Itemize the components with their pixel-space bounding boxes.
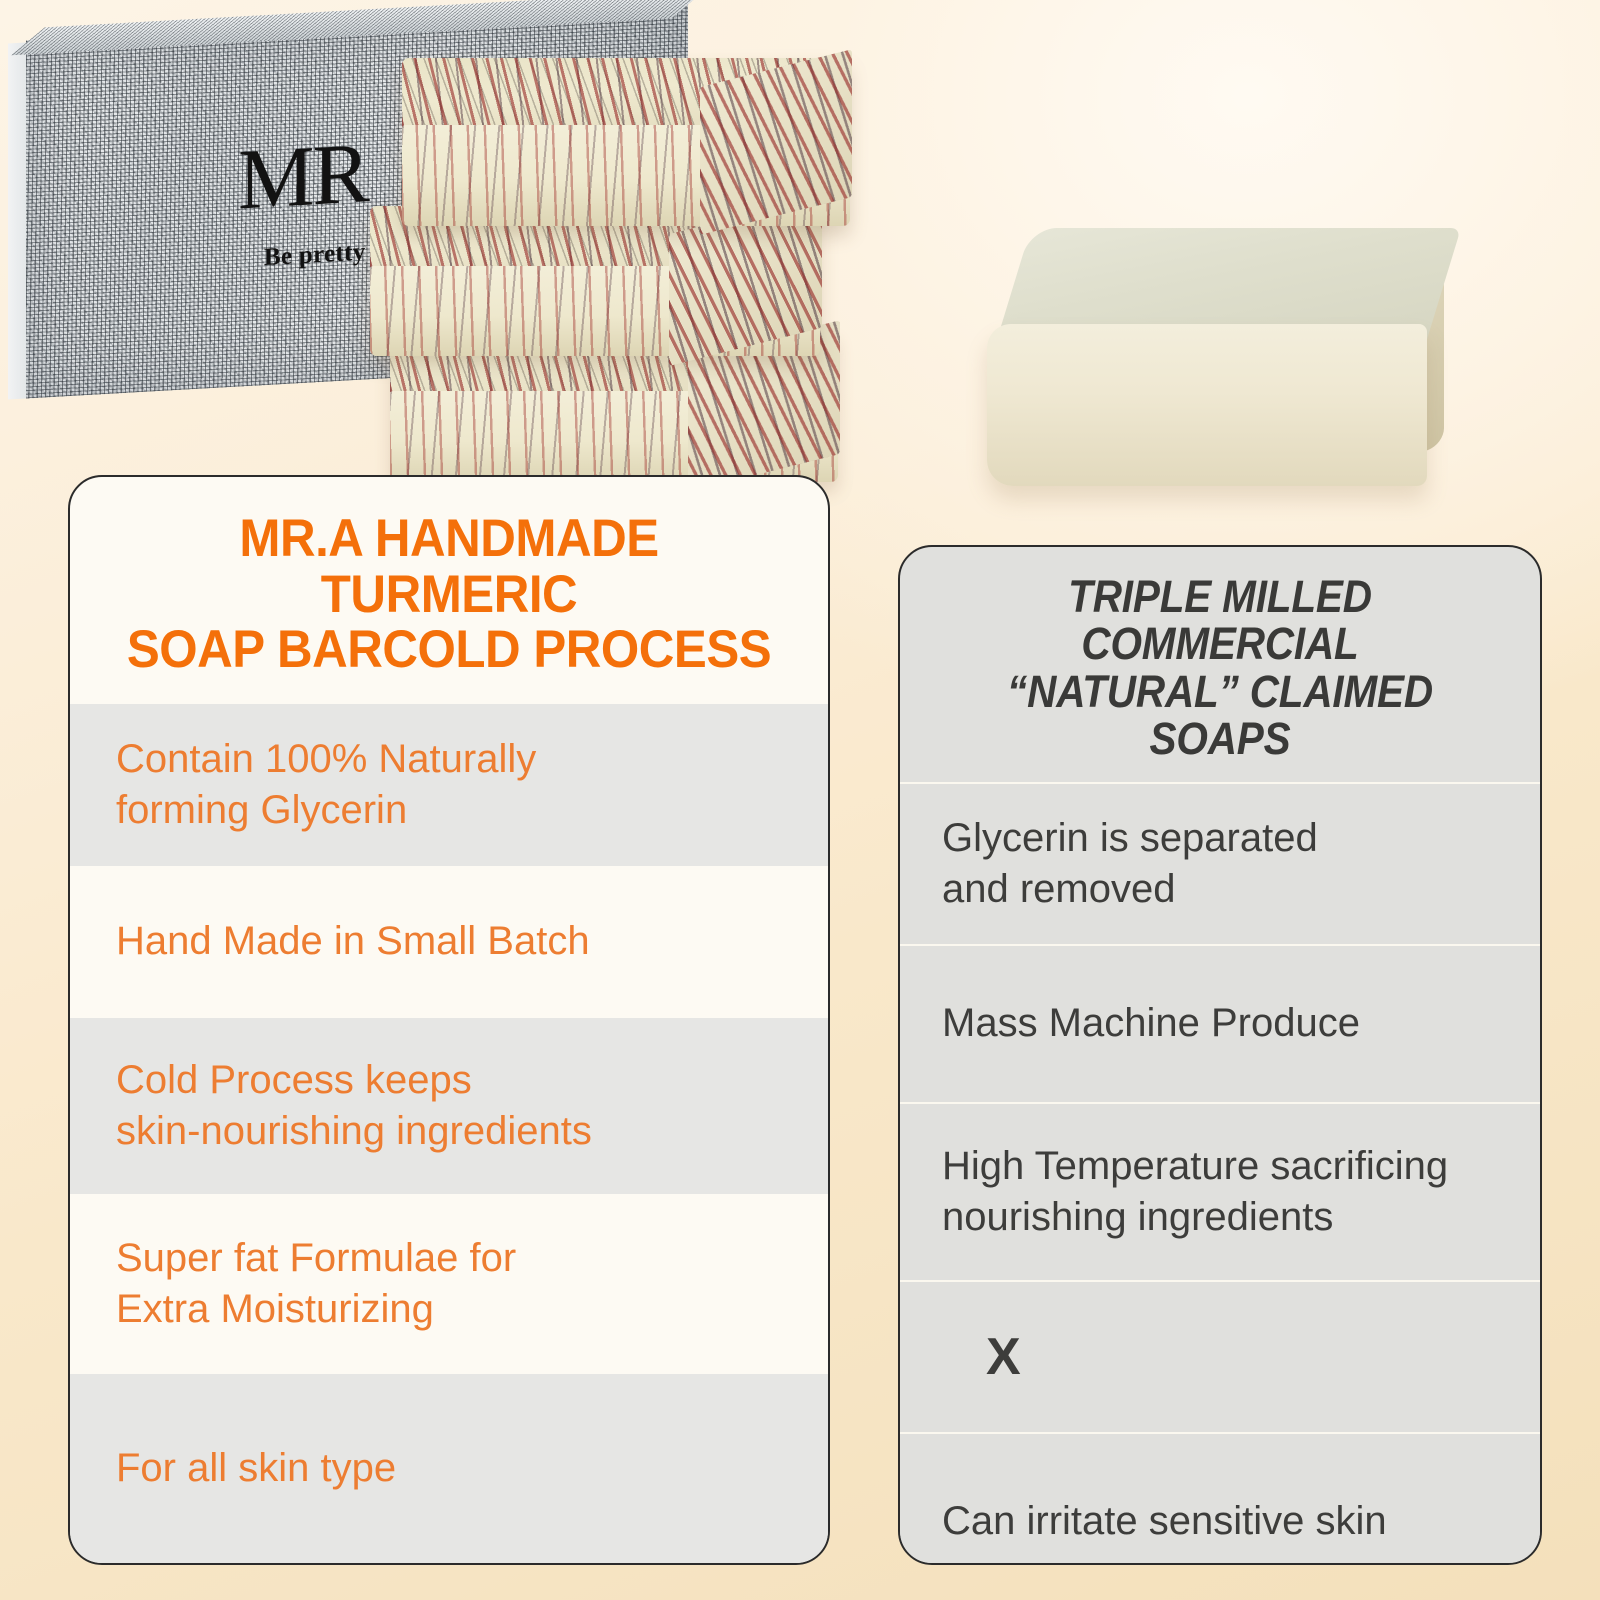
handmade-feature-list: Contain 100% Naturally forming Glycerin … [70,704,828,1564]
handmade-comparison-card: MR.A HANDMADE TURMERIC SOAP BARCOLD PROC… [68,475,830,1565]
commercial-drawback-list: Glycerin is separated and removed Mass M… [900,782,1540,1565]
list-item: X [900,1280,1540,1432]
commercial-card-title: TRIPLE MILLED COMMERCIAL “NATURAL” CLAIM… [932,547,1508,782]
list-item: Glycerin is separated and removed [900,782,1540,944]
list-item: Super fat Formulae for Extra Moisturizin… [70,1194,828,1374]
handmade-card-title-line2: SOAP BARCOLD PROCESS [113,622,784,678]
handmade-card-title: MR.A HANDMADE TURMERIC SOAP BARCOLD PROC… [97,477,802,704]
list-item: Contain 100% Naturally forming Glycerin [70,704,828,866]
soap-bar-top [402,58,850,226]
x-mark-label: X [986,1324,1021,1391]
list-item: For all skin type [70,1374,828,1564]
list-item: Cold Process keeps skin-nourishing ingre… [70,1018,828,1194]
list-item: High Temperature sacrificing nourishing … [900,1102,1540,1280]
commercial-bar-front-face [987,324,1427,486]
soap-bar-middle [370,206,820,356]
handmade-card-title-line1: MR.A HANDMADE TURMERIC [113,511,784,622]
handmade-soap-stack-image [370,58,850,483]
handmade-feature-text: Super fat Formulae for Extra Moisturizin… [116,1233,516,1335]
handmade-feature-text: Hand Made in Small Batch [116,916,590,967]
commercial-soap-bar-image [985,228,1440,496]
commercial-drawback-text: High Temperature sacrificing nourishing … [942,1141,1448,1243]
list-item: Hand Made in Small Batch [70,866,828,1018]
list-item: Mass Machine Produce [900,944,1540,1102]
commercial-drawback-text: Glycerin is separated and removed [942,813,1318,915]
commercial-card-title-line2: “NATURAL” CLAIMED SOAPS [945,668,1496,763]
handmade-feature-text: Contain 100% Naturally forming Glycerin [116,734,536,836]
commercial-drawback-text: Mass Machine Produce [942,998,1360,1049]
list-item: Can irritate sensitive skin [900,1432,1540,1565]
commercial-card-title-line1: TRIPLE MILLED COMMERCIAL [945,573,1496,668]
commercial-drawback-text: Can irritate sensitive skin [942,1496,1387,1547]
product-photo-stage: MR Be pretty [0,0,1600,520]
handmade-feature-text: Cold Process keeps skin-nourishing ingre… [116,1055,592,1157]
commercial-comparison-card: TRIPLE MILLED COMMERCIAL “NATURAL” CLAIM… [898,545,1542,1565]
handmade-feature-text: For all skin type [116,1443,396,1494]
